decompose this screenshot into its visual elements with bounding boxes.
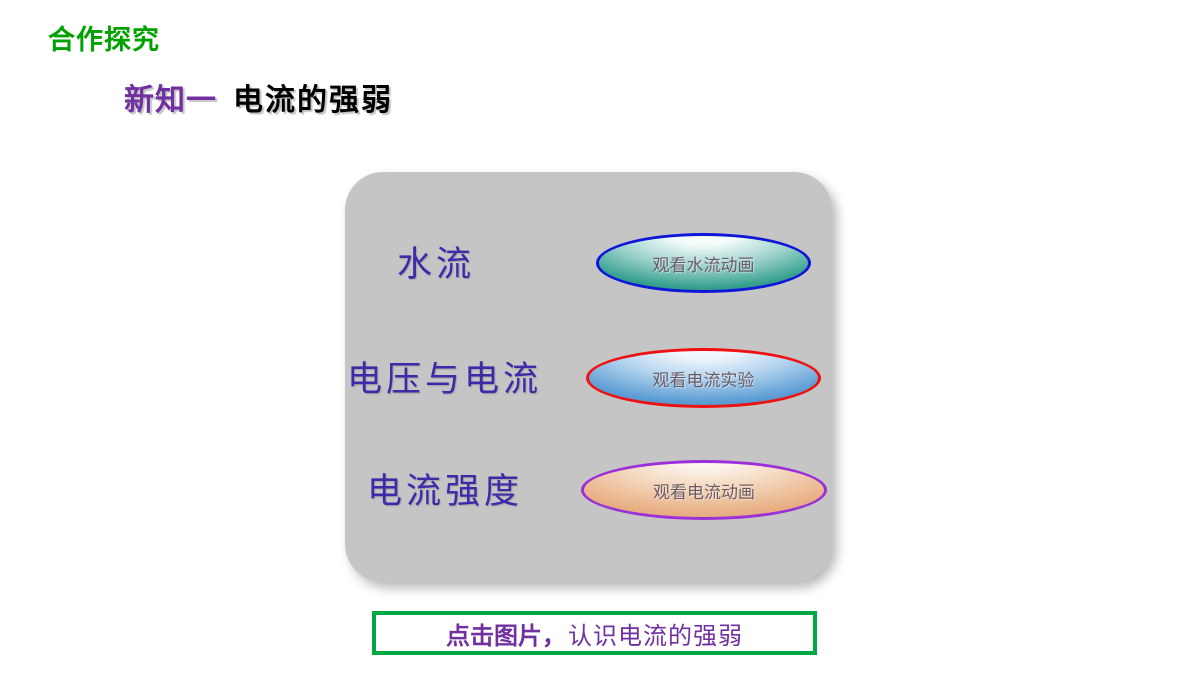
panel-row-current: 电流强度 观看电流动画 <box>345 462 832 522</box>
watch-current-animation-label: 观看电流动画 <box>653 478 755 503</box>
watch-current-experiment-button[interactable]: 观看电流实验 <box>586 348 821 408</box>
lesson-tag: 新知一 <box>124 84 217 117</box>
callout-strong-text: 点击图片， <box>446 616 566 651</box>
panel-row-voltage: 电压与电流 观看电流实验 <box>345 350 832 410</box>
callout-normal-text: 认识电流的强弱 <box>568 616 743 651</box>
watch-water-animation-button[interactable]: 观看水流动画 <box>596 233 811 293</box>
watch-water-animation-label: 观看水流动画 <box>653 251 755 276</box>
section-label: 合作探究 <box>48 26 160 56</box>
callout-box: 点击图片，认识电流的强弱 <box>372 611 817 655</box>
watch-current-animation-button[interactable]: 观看电流动画 <box>581 460 827 520</box>
watch-current-experiment-label: 观看电流实验 <box>653 366 755 391</box>
picture-panel[interactable]: 水流 观看水流动画 电压与电流 观看电流实验 电流强度 观看电流动画 <box>345 172 832 582</box>
row-label-current: 电流强度 <box>367 462 523 522</box>
row-label-water: 水流 <box>397 235 475 295</box>
row-label-voltage: 电压与电流 <box>347 350 542 410</box>
panel-row-water: 水流 观看水流动画 <box>345 235 832 295</box>
lesson-title: 电流的强弱 <box>233 84 393 117</box>
lesson-heading: 新知一电流的强弱 <box>124 84 393 117</box>
